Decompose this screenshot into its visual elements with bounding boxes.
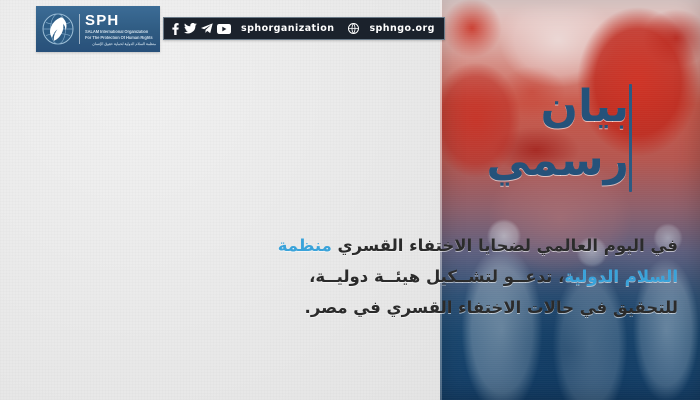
body-line-3: للتحقيق في حالات الاختفاء القسري في مصر. xyxy=(278,292,678,323)
logo-text: SPH SALAM International Organization For… xyxy=(85,12,156,46)
website-url[interactable]: sphngo.org xyxy=(369,24,434,34)
panel-seam xyxy=(440,0,442,400)
body-line-2: السلام الدولية، تدعــو لتشــكيل هيئــة د… xyxy=(278,261,678,292)
telegram-icon[interactable] xyxy=(201,23,213,34)
photo-panel xyxy=(440,0,700,400)
logo-title: SPH xyxy=(85,13,156,28)
social-icon-group xyxy=(171,23,231,35)
logo-subtitle-en-1: SALAM International Organization xyxy=(85,30,156,34)
left-text-panel xyxy=(0,0,440,400)
logo-badge[interactable]: SPH SALAM International Organization For… xyxy=(36,6,160,52)
statement-title: بيان رسمي xyxy=(314,80,644,192)
body-line-1: في اليوم العالمي لضحايا الاختفاء القسري … xyxy=(278,230,678,261)
logo-subtitle-ar: منظمة السلام الدولية لحماية حقوق الإنسان xyxy=(85,42,156,46)
body-line-3-dark: للتحقيق في حالات الاختفاء القسري في مصر. xyxy=(305,298,678,317)
body-line-2-highlight: السلام الدولية xyxy=(564,267,678,286)
dove-globe-icon xyxy=(41,12,75,46)
title-line-1: بيان xyxy=(486,80,629,134)
title-line-2: رسمي xyxy=(486,134,629,188)
social-handle[interactable]: sphorganization xyxy=(241,24,334,34)
twitter-icon[interactable] xyxy=(184,23,197,34)
globe-icon xyxy=(348,23,359,34)
facebook-icon[interactable] xyxy=(171,23,180,35)
body-line-2-dark: ، تدعــو لتشــكيل هيئــة دوليــة، xyxy=(309,267,564,286)
youtube-icon[interactable] xyxy=(217,24,231,34)
title-words: بيان رسمي xyxy=(486,80,629,188)
body-line-1-highlight: منظمة xyxy=(278,236,332,255)
body-line-1-dark: في اليوم العالمي لضحايا الاختفاء القسري xyxy=(332,236,678,255)
header: SPH SALAM International Organization For… xyxy=(36,6,445,52)
social-bar: sphorganization sphngo.org xyxy=(163,17,445,40)
title-divider-rule xyxy=(629,84,632,192)
statement-body: في اليوم العالمي لضحايا الاختفاء القسري … xyxy=(278,230,678,323)
statement-card: SPH SALAM International Organization For… xyxy=(0,0,700,400)
logo-subtitle-en-2: For The Protection Of Human Rights xyxy=(85,36,156,40)
crowd-photo xyxy=(440,0,700,400)
logo-divider xyxy=(79,14,80,44)
